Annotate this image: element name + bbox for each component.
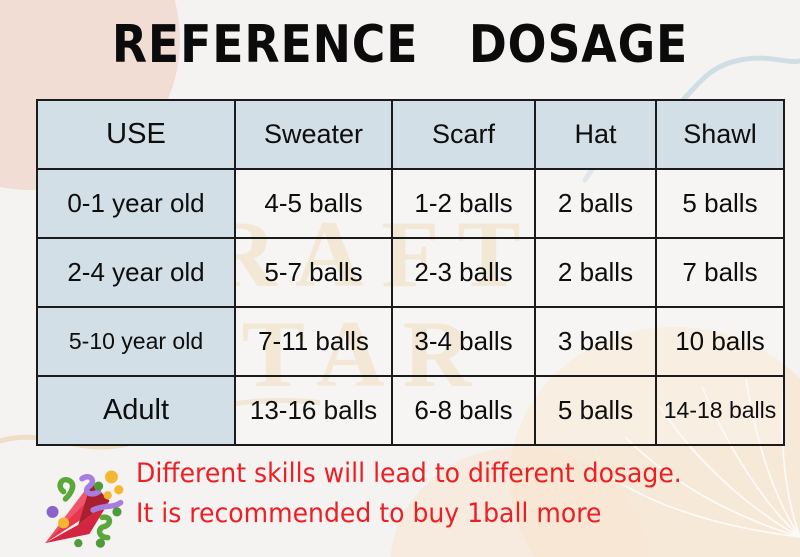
table-header-shawl: Shawl xyxy=(656,100,784,169)
table-header-use: USE xyxy=(37,100,235,169)
cell-hat-2: 3 balls xyxy=(535,307,656,376)
table-header-scarf: Scarf xyxy=(392,100,535,169)
cell-sweater-3: 13-16 balls xyxy=(235,376,392,445)
table-header-row: USE Sweater Scarf Hat Shawl xyxy=(37,100,784,169)
page-title: REFERENCE DOSAGE xyxy=(48,16,752,74)
note-line-1: Different skills will lead to different … xyxy=(136,459,682,489)
note-lines: Different skills will lead to different … xyxy=(136,459,723,529)
table-header-sweater: Sweater xyxy=(235,100,392,169)
cell-use-0: 0-1 year old xyxy=(37,169,235,238)
poster-canvas: CRAFT STAR REFERENCE DOSAGE USE Sweater … xyxy=(0,0,800,557)
party-popper-icon xyxy=(36,457,128,552)
footer-note: Different skills will lead to different … xyxy=(36,455,776,552)
table-row: Adult 13-16 balls 6-8 balls 5 balls 14-1… xyxy=(37,376,784,445)
cell-use-2: 5-10 year old xyxy=(37,307,235,376)
cell-scarf-2: 3-4 balls xyxy=(392,307,535,376)
cell-sweater-1: 5-7 balls xyxy=(235,238,392,307)
table-row: 0-1 year old 4-5 balls 1-2 balls 2 balls… xyxy=(37,169,784,238)
table-header-hat: Hat xyxy=(535,100,656,169)
cell-scarf-1: 2-3 balls xyxy=(392,238,535,307)
cell-use-1: 2-4 year old xyxy=(37,238,235,307)
cell-hat-0: 2 balls xyxy=(535,169,656,238)
cell-use-3: Adult xyxy=(37,376,235,445)
note-line-2: It is recommended to buy 1ball more xyxy=(136,499,682,529)
cell-sweater-2: 7-11 balls xyxy=(235,307,392,376)
cell-hat-1: 2 balls xyxy=(535,238,656,307)
cell-shawl-2: 10 balls xyxy=(656,307,784,376)
cell-shawl-1: 7 balls xyxy=(656,238,784,307)
cell-scarf-0: 1-2 balls xyxy=(392,169,535,238)
cell-shawl-0: 5 balls xyxy=(656,169,784,238)
table-row: 2-4 year old 5-7 balls 2-3 balls 2 balls… xyxy=(37,238,784,307)
dosage-table: USE Sweater Scarf Hat Shawl 0-1 year old… xyxy=(36,99,785,446)
table-row: 5-10 year old 7-11 balls 3-4 balls 3 bal… xyxy=(37,307,784,376)
cell-shawl-3: 14-18 balls xyxy=(656,376,784,445)
cell-scarf-3: 6-8 balls xyxy=(392,376,535,445)
cell-hat-3: 5 balls xyxy=(535,376,656,445)
cell-sweater-0: 4-5 balls xyxy=(235,169,392,238)
